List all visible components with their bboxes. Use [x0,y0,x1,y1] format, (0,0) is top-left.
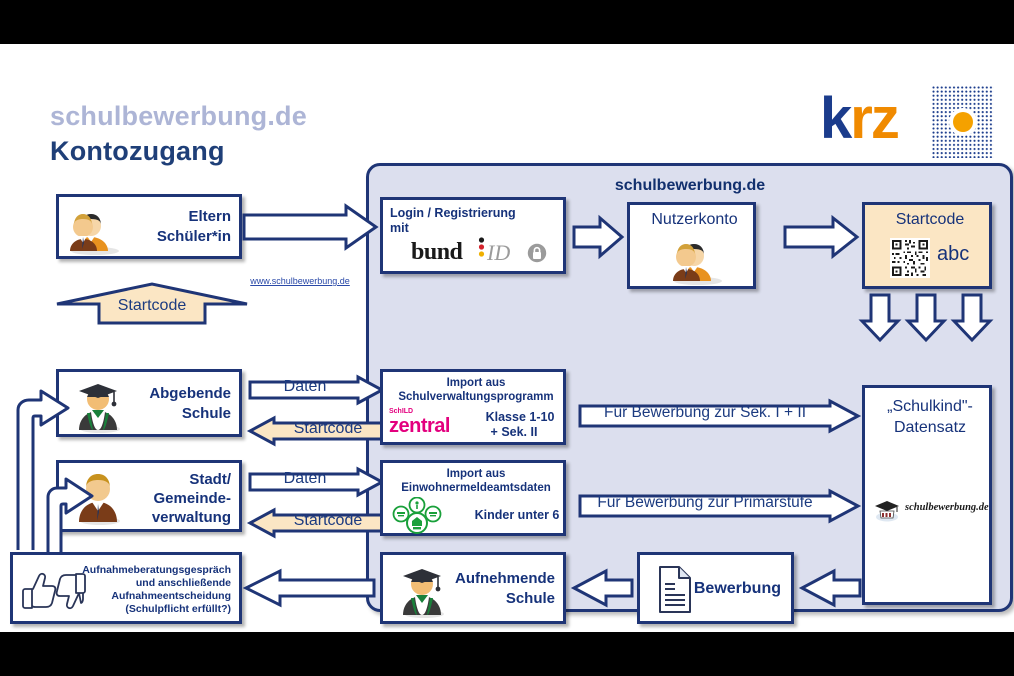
krz-letters-rz: rz [850,86,898,151]
krz-wordmark: krz [820,90,898,148]
node-bewerbung[interactable]: Bewerbung [637,552,794,624]
arrow-bewerbung-to-aufnehmende [572,569,634,607]
node-aufnahmeberatung[interactable]: Aufnahmeberatungsgespräch und anschließe… [10,552,242,624]
schild-zentral-logo-main: zentral [389,416,475,437]
node-eltern-label: Eltern Schüler*in [101,207,231,247]
node-aufnehmende-label: Aufnehmende Schule [423,569,555,609]
node-import-einwohner-note1: Kinder unter 6 [471,508,563,522]
arrow-primarstufe [578,489,860,523]
schulbewerbung-logo-text: schulbewerbung.de [905,502,989,513]
node-import-einwohner-title: Import aus Einwohnermeldeamtsdaten [383,467,569,495]
node-schulkind-datensatz[interactable]: „Schulkind"- Datensatz schulbewerbung.de [862,385,992,605]
node-import-schulverwaltung[interactable]: Import aus Schulverwaltungsprogramm SchI… [380,369,566,445]
arrow-www-to-login [242,204,378,250]
node-abgebende-schule[interactable]: Abgebende Schule [56,369,242,437]
two-people-icon [668,233,724,285]
arrow-sek-1-2 [578,399,860,433]
bundid-wordmark-id: ID [487,240,510,266]
node-startcode[interactable]: Startcode [862,202,992,289]
page-title: Kontozugang [50,136,225,167]
node-stadt-label: Stadt/ Gemeinde- verwaltung [101,470,231,527]
node-startcode-label: Startcode [865,211,995,229]
arrow-feedback-to-stadt [40,464,96,554]
germany-flag-dots-icon [478,236,485,260]
page-subtitle: schulbewerbung.de [50,101,307,132]
node-aufnehmende-schule[interactable]: Aufnehmende Schule [380,552,566,624]
krz-logo: krz [820,86,995,162]
bundid-wordmark-bund: bund [411,239,462,266]
link-www-schulbewerbung[interactable]: www.schulbewerbung.de [248,276,352,286]
krz-letter-k: k [820,86,850,151]
arrow-nutzerkonto-to-startcode [783,216,859,258]
node-aufnahmeberatung-label: Aufnahmeberatungsgespräch und anschließe… [79,564,231,616]
node-startcode-value: abc [937,243,969,266]
node-import-einwohner[interactable]: Import aus Einwohnermeldeamtsdaten Kinde… [380,460,566,536]
node-nutzerkonto-label: Nutzerkonto [630,211,759,229]
node-eltern-schueler[interactable]: Eltern Schüler*in [56,194,242,259]
node-import-schulverwaltung-title: Import aus Schulverwaltungsprogramm [383,376,569,404]
arrow-startcode-down-3 [951,293,993,343]
krz-dot-circle-icon [932,86,994,158]
node-login-registrierung[interactable]: Login / Registrierung mit bund ID [380,197,566,274]
arrow-startcode-down-1 [859,293,901,343]
node-schulkind-label: „Schulkind"- Datensatz [865,396,995,438]
bundid-logo: bund ID [405,236,565,270]
panel-title: schulbewerbung.de [560,177,820,195]
node-login-label: Login / Registrierung mit [390,206,566,236]
arrow-daten-2 [248,467,384,497]
node-nutzerkonto[interactable]: Nutzerkonto [627,202,756,289]
node-bewerbung-label: Bewerbung [685,580,781,598]
schulbewerbung-logo: schulbewerbung.de [873,498,989,522]
diagram-canvas: schulbewerbung.de Kontozugang krz [0,44,1014,632]
schild-zentral-logo: SchILD zentral [389,408,475,437]
arrow-schulkind-to-bewerbung [800,569,862,607]
node-import-schulverwaltung-note1: Klasse 1-10 [475,410,565,425]
arrow-startcode-back-1 [248,416,384,446]
arrow-login-to-nutzerkonto [572,216,624,258]
arrow-startcode-up [55,282,249,325]
qr-code-icon [890,238,930,278]
arrow-aufnehmende-to-beratung [244,569,376,607]
screenshot-stage: schulbewerbung.de Kontozugang krz [0,0,1014,676]
lock-icon [527,243,547,263]
graduation-cap-icon [873,498,901,522]
node-import-schulverwaltung-note2: + Sek. II [469,425,559,440]
node-abgebende-label: Abgebende Schule [101,384,231,424]
kommunal-green-icon [391,497,443,535]
arrow-startcode-back-2 [248,508,384,538]
arrow-startcode-down-2 [905,293,947,343]
arrow-daten-1 [248,375,384,405]
